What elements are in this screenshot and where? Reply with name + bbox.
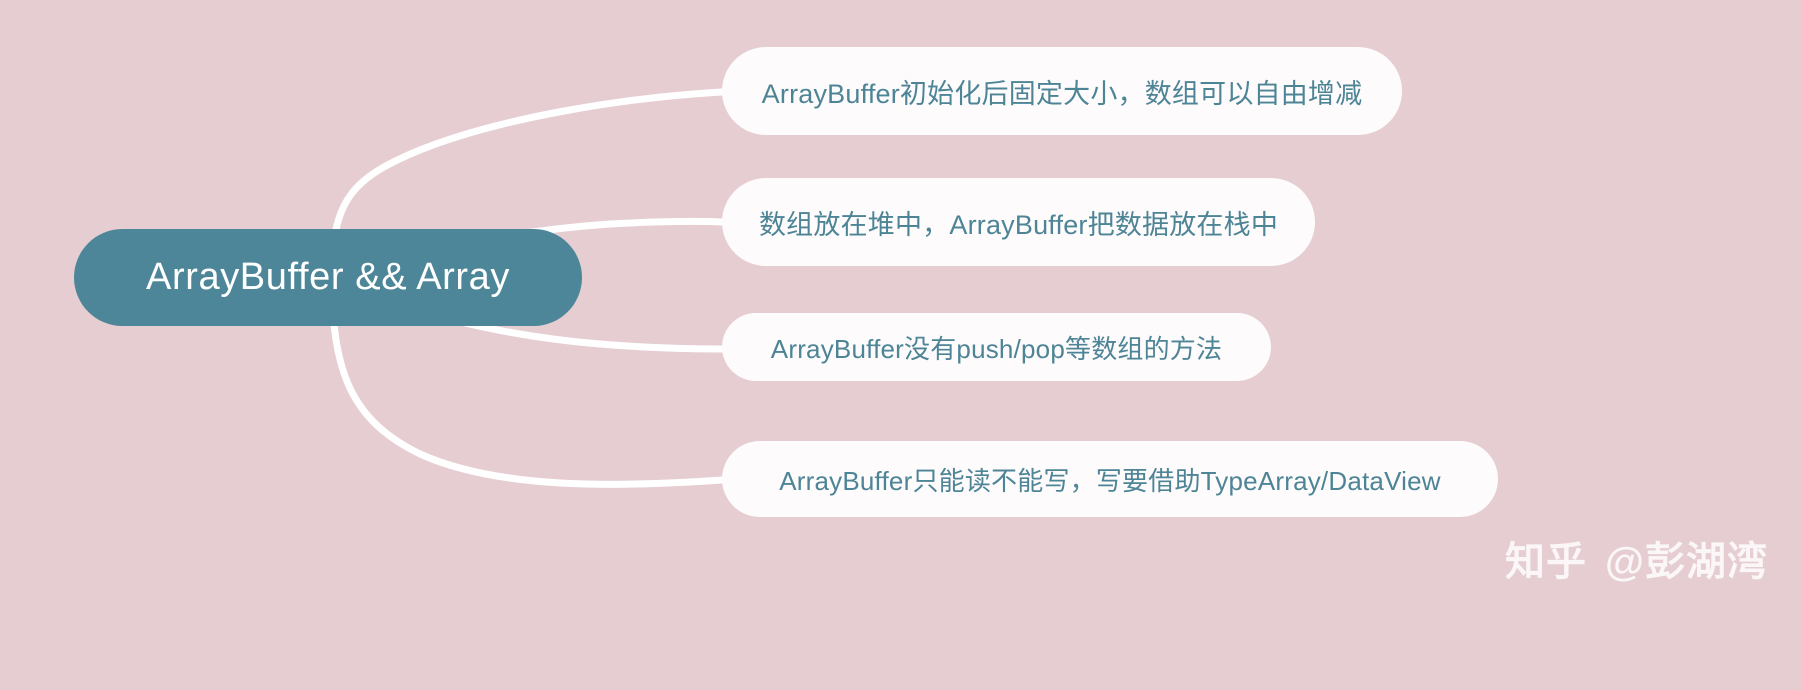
branch-node-4[interactable]: ArrayBuffer只能读不能写，写要借助TypeArray/DataView bbox=[722, 441, 1498, 517]
branch-node-4-label: ArrayBuffer只能读不能写，写要借助TypeArray/DataView bbox=[779, 461, 1441, 498]
branch-node-2[interactable]: 数组放在堆中，ArrayBuffer把数据放在栈中 bbox=[722, 178, 1315, 266]
branch-node-1-label: ArrayBuffer初始化后固定大小，数组可以自由增减 bbox=[762, 72, 1363, 111]
watermark: 知乎 @彭湖湾 bbox=[1505, 529, 1768, 587]
branch-node-1[interactable]: ArrayBuffer初始化后固定大小，数组可以自由增减 bbox=[722, 47, 1402, 135]
mindmap-canvas: ArrayBuffer && Array ArrayBuffer初始化后固定大小… bbox=[0, 0, 1802, 690]
watermark-site-label: 知乎 bbox=[1505, 529, 1587, 587]
branch-node-2-label: 数组放在堆中，ArrayBuffer把数据放在栈中 bbox=[759, 203, 1278, 242]
root-node[interactable]: ArrayBuffer && Array bbox=[74, 229, 582, 326]
root-node-label: ArrayBuffer && Array bbox=[146, 256, 510, 299]
branch-node-3[interactable]: ArrayBuffer没有push/pop等数组的方法 bbox=[722, 313, 1271, 381]
watermark-handle-label: @彭湖湾 bbox=[1605, 529, 1768, 587]
branch-node-3-label: ArrayBuffer没有push/pop等数组的方法 bbox=[771, 329, 1222, 366]
